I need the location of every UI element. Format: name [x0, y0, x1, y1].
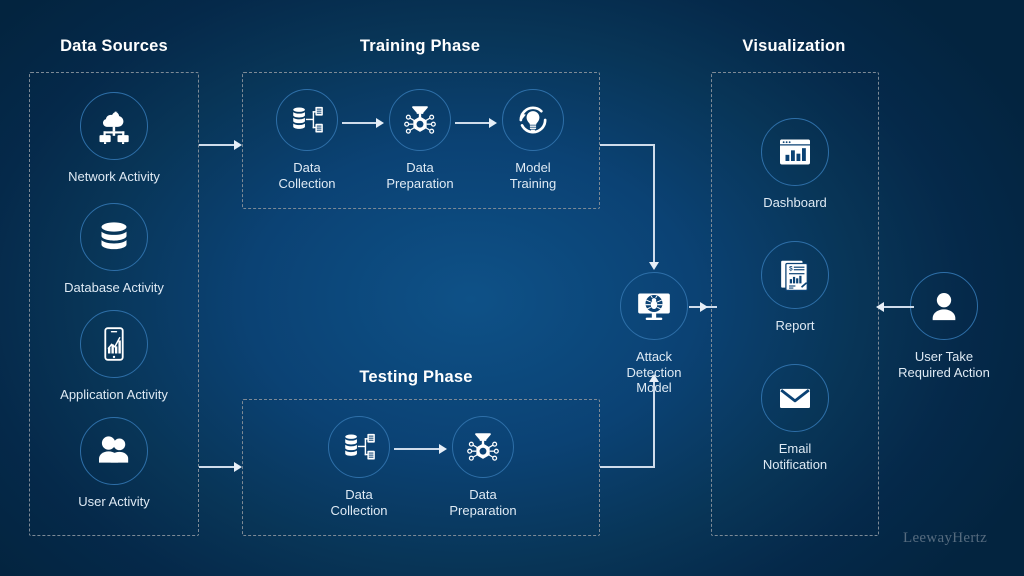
node-label: Database Activity	[34, 280, 194, 296]
node-label: Network Activity	[34, 169, 194, 185]
database-cylinder-icon	[80, 203, 148, 271]
network-cloud-icon	[80, 92, 148, 160]
section-title-visualization: Visualization	[709, 37, 879, 56]
user-avatar-icon	[910, 272, 978, 340]
watermark-leewayhertz: LeewayHertz	[903, 530, 987, 547]
data-preparation-gear-icon	[389, 89, 451, 151]
section-title-training-phase: Training Phase	[335, 37, 505, 56]
model-training-bulb-icon	[502, 89, 564, 151]
data-preparation-gear-icon	[452, 416, 514, 478]
envelope-icon	[761, 364, 829, 432]
node-training-data-preparation[interactable]: Data Preparation	[365, 89, 475, 191]
node-label: Data Preparation	[365, 160, 475, 191]
node-label: Model Training	[478, 160, 588, 191]
data-collection-icon	[276, 89, 338, 151]
node-user-activity[interactable]: User Activity	[34, 417, 194, 510]
node-testing-data-preparation[interactable]: Data Preparation	[428, 416, 538, 518]
node-user-take-required-action[interactable]: User Take Required Action	[864, 272, 1024, 380]
users-group-icon	[80, 417, 148, 485]
node-label: Application Activity	[34, 387, 194, 403]
node-report[interactable]: $ Report	[715, 241, 875, 334]
node-label: Data Collection	[304, 487, 414, 518]
node-label: User Take Required Action	[864, 349, 1024, 380]
dashboard-window-icon	[761, 118, 829, 186]
node-label: Data Collection	[252, 160, 362, 191]
svg-text:$: $	[789, 266, 793, 273]
mobile-chart-icon	[80, 310, 148, 378]
node-testing-data-collection[interactable]: Data Collection	[304, 416, 414, 518]
node-application-activity[interactable]: Application Activity	[34, 310, 194, 403]
node-network-activity[interactable]: Network Activity	[34, 92, 194, 185]
node-label: Dashboard	[715, 195, 875, 211]
monitor-bug-icon	[620, 272, 688, 340]
node-label: Email Notification	[715, 441, 875, 472]
diagram-canvas: Data Sources Training Phase Testing Phas…	[0, 0, 1024, 576]
node-database-activity[interactable]: Database Activity	[34, 203, 194, 296]
node-dashboard[interactable]: Dashboard	[715, 118, 875, 211]
report-document-icon: $	[761, 241, 829, 309]
node-label: User Activity	[34, 494, 194, 510]
node-training-data-collection[interactable]: Data Collection	[252, 89, 362, 191]
section-title-testing-phase: Testing Phase	[331, 368, 501, 387]
section-title-data-sources: Data Sources	[29, 37, 199, 56]
node-label: Report	[715, 318, 875, 334]
data-collection-icon	[328, 416, 390, 478]
group-box-testing-phase	[242, 399, 600, 536]
node-email-notification[interactable]: Email Notification	[715, 364, 875, 472]
node-label: Data Preparation	[428, 487, 538, 518]
node-model-training[interactable]: Model Training	[478, 89, 588, 191]
